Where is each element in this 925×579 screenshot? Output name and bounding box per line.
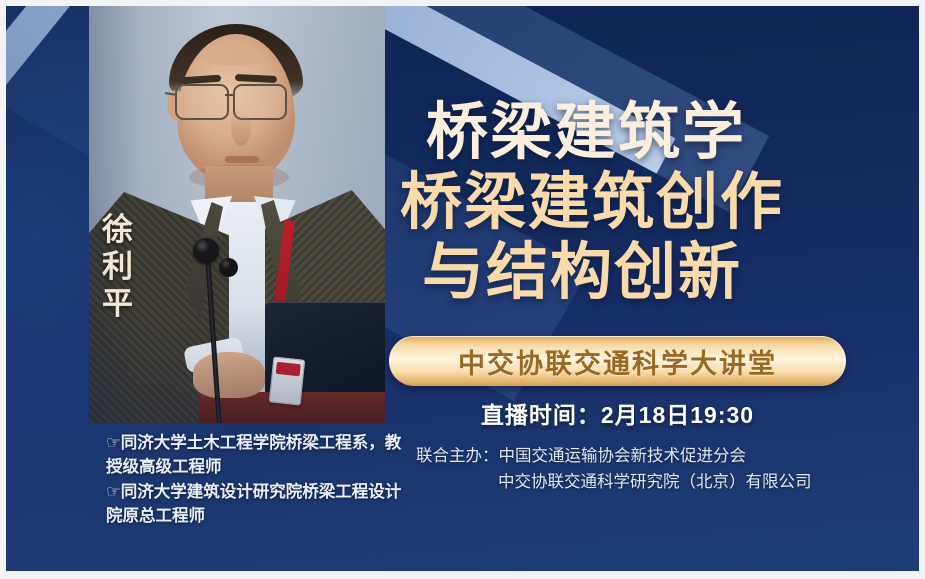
credential-line-1: ☞同济大学土木工程学院桥梁工程系，教授级高级工程师 (106, 431, 406, 479)
title-line-2: 桥梁建筑创作 (390, 168, 910, 238)
speaker-credentials: ☞同济大学土木工程学院桥梁工程系，教授级高级工程师 ☞同济大学建筑设计研究院桥梁… (106, 431, 406, 529)
organizer-line-2: 中交协联交通科学研究院（北京）有限公司 (416, 469, 886, 495)
poster-title: 桥梁建筑学 桥梁建筑创作 与结构创新 (390, 98, 910, 308)
organizers-block: 联合主办：中国交通运输协会新技术促进分会 中交协联交通科学研究院（北京）有限公司 (416, 443, 886, 495)
title-line-3: 与结构创新 (390, 238, 910, 308)
speaker-name-char-3: 平 (95, 285, 141, 322)
title-line-1: 桥梁建筑学 (390, 98, 910, 168)
poster-stage: 徐 利 平 ☞同济大学土木工程学院桥梁工程系，教授级高级工程师 ☞同济大学建筑设… (6, 6, 919, 571)
series-banner-pill: 中交协联交通科学大讲堂 (389, 336, 846, 386)
speaker-name-char-2: 利 (95, 248, 141, 285)
organizer-line-1: 联合主办：中国交通运输协会新技术促进分会 (416, 443, 886, 469)
credential-line-2: ☞同济大学建筑设计研究院桥梁工程设计院原总工程师 (106, 480, 406, 528)
speaker-name-char-1: 徐 (95, 211, 141, 248)
series-banner-label: 中交协联交通科学大讲堂 (458, 342, 777, 381)
poster-root: 徐 利 平 ☞同济大学土木工程学院桥梁工程系，教授级高级工程师 ☞同济大学建筑设… (0, 0, 925, 579)
speaker-name: 徐 利 平 (95, 211, 141, 322)
live-time: 直播时间：2月18日19:30 (389, 396, 846, 430)
